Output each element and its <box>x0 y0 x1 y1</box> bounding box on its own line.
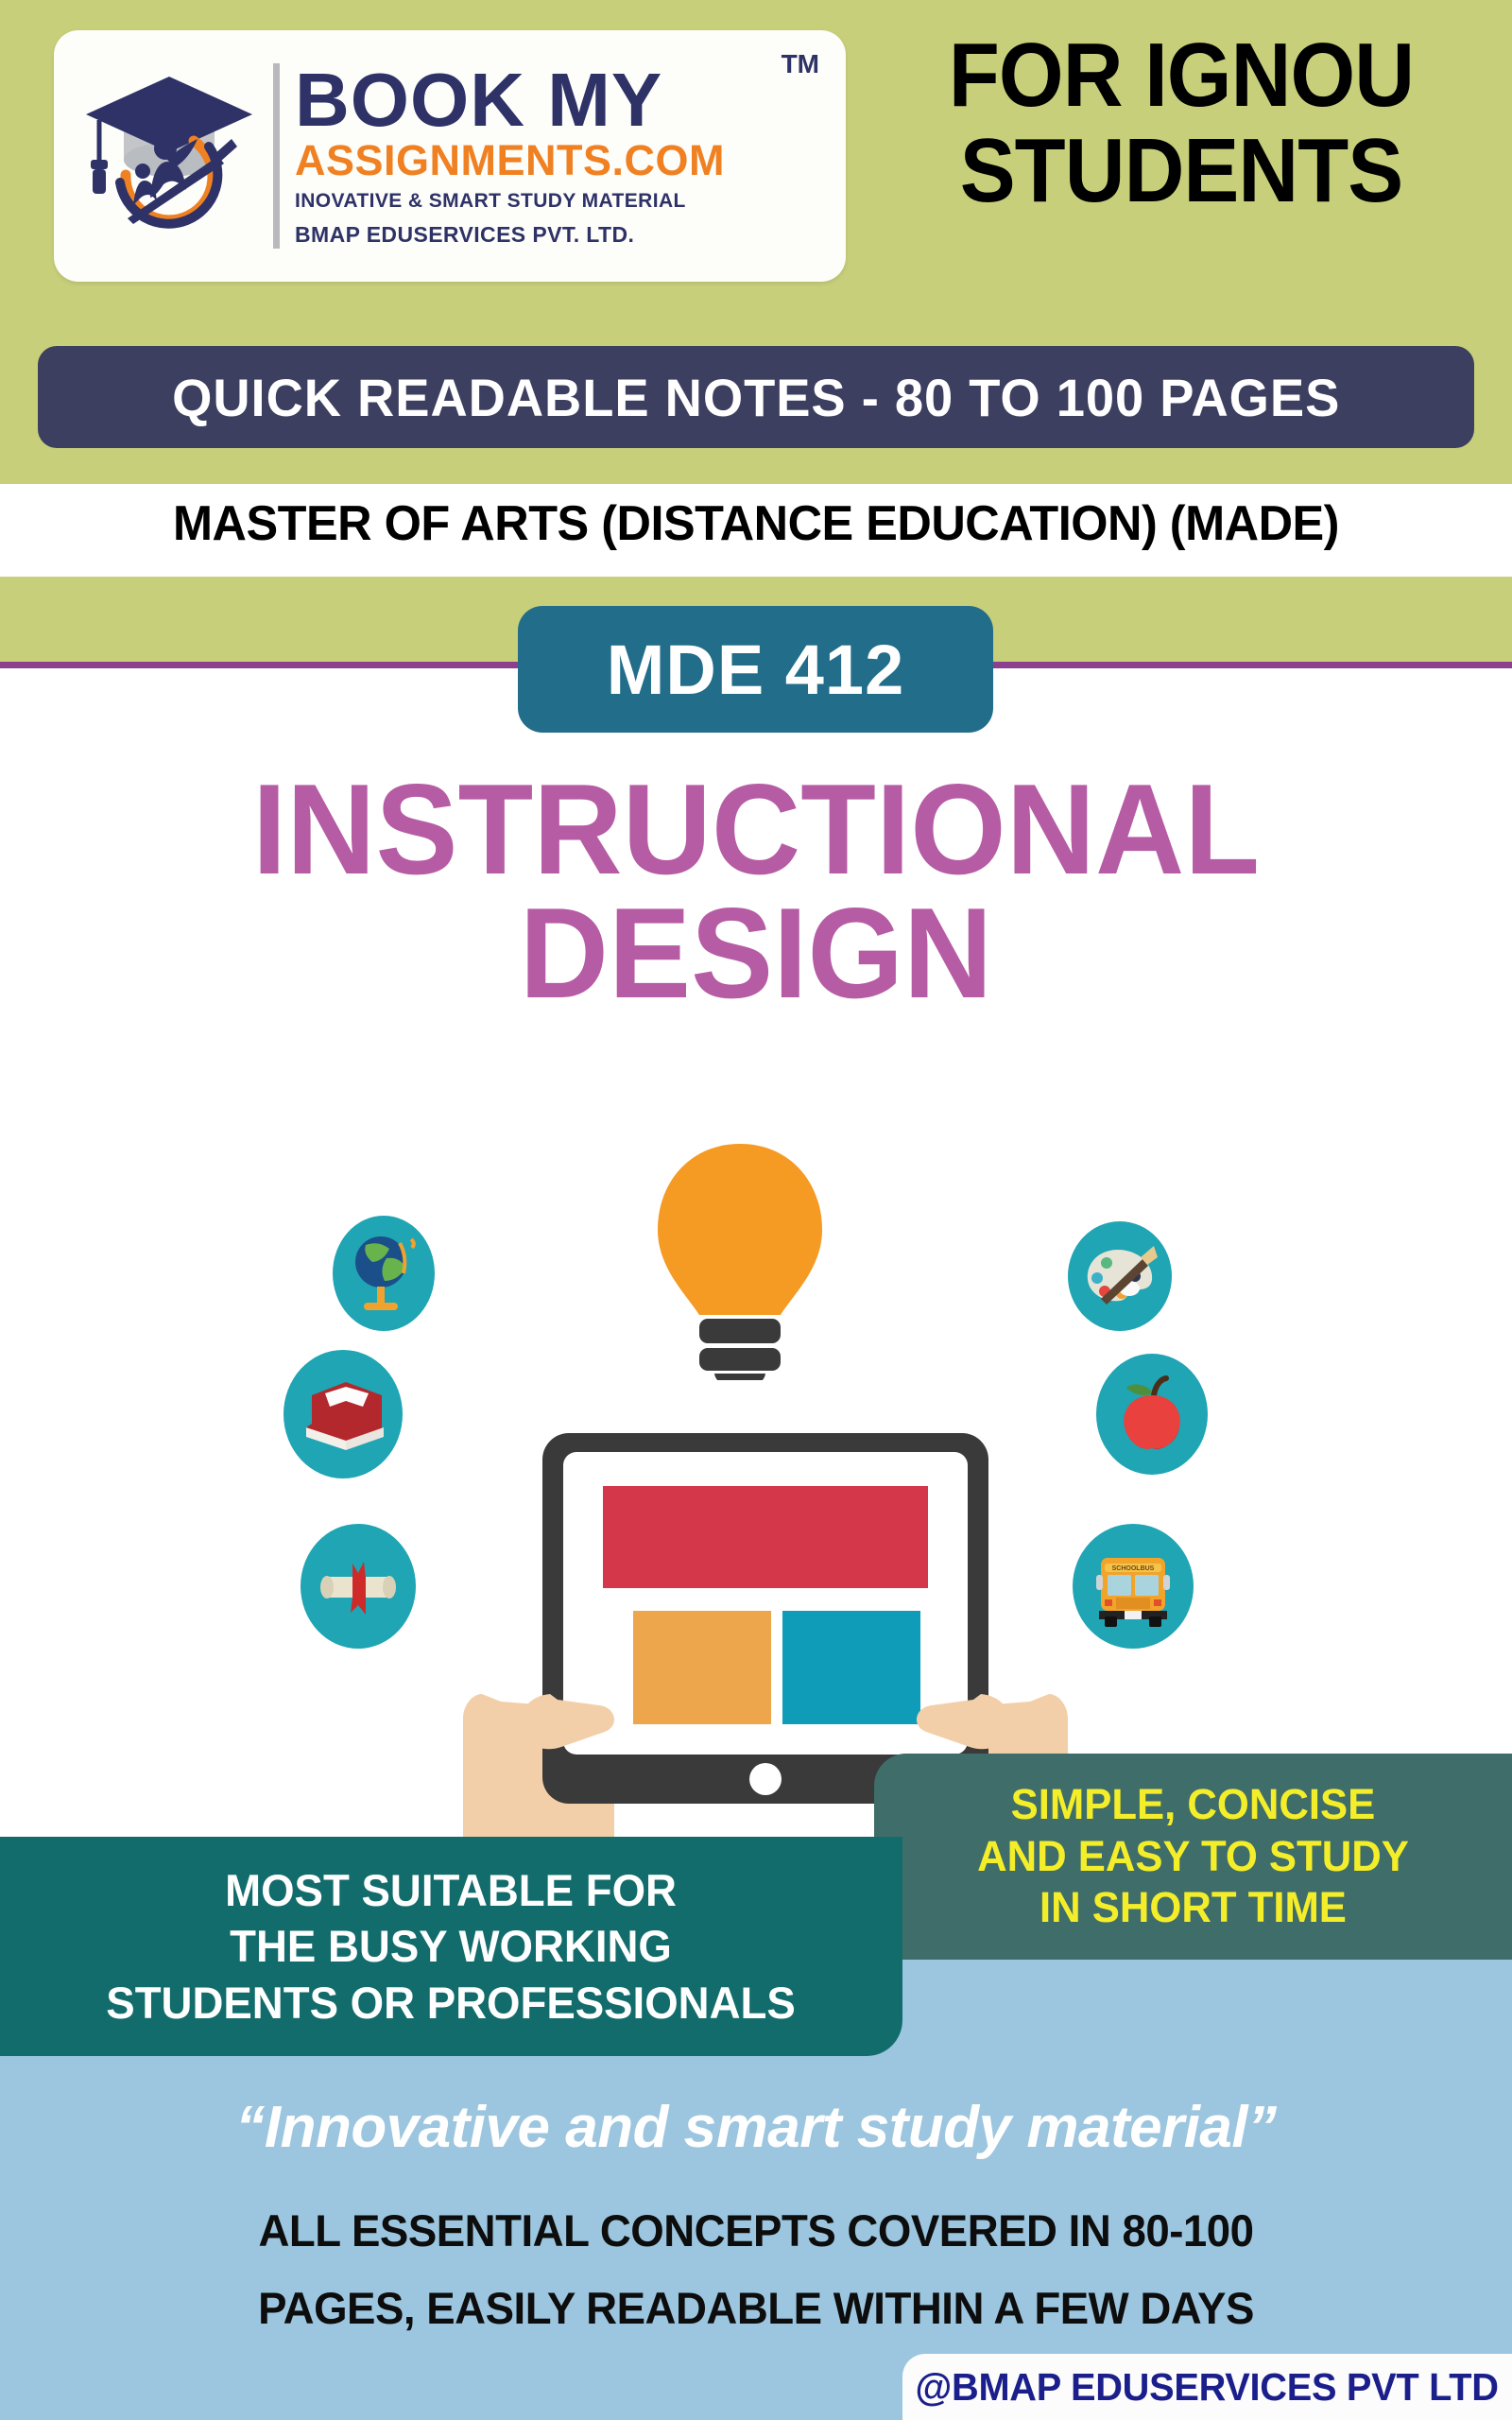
brand-line-2: ASSIGNMENTS.COM <box>295 136 831 185</box>
brand-tagline: INOVATIVE & SMART STUDY MATERIAL <box>295 190 831 213</box>
audience-line-2: STUDENTS <box>894 124 1468 219</box>
logo-wordmark: TM BOOK MY ASSIGNMENTS.COM INOVATIVE & S… <box>295 64 846 248</box>
globe-icon <box>333 1216 435 1331</box>
logo-vertical-divider <box>273 63 280 249</box>
callout-left: MOST SUITABLE FOR THE BUSY WORKING STUDE… <box>0 1837 902 2056</box>
degree-title: MASTER OF ARTS (DISTANCE EDUCATION) (MAD… <box>23 495 1489 552</box>
course-title-line-1: INSTRUCTIONAL <box>30 768 1482 891</box>
course-title-line-2: DESIGN <box>30 891 1482 1015</box>
book-icon <box>283 1350 403 1478</box>
audience-heading: FOR IGNOU STUDENTS <box>894 28 1468 219</box>
svg-text:SCHOOLBUS: SCHOOLBUS <box>1112 1565 1155 1572</box>
callout-left-line-2: THE BUSY WORKING <box>107 1918 797 1974</box>
graduation-cap-logo-icon <box>69 56 269 256</box>
callout-right-line-2: AND EASY TO STUDY <box>977 1831 1409 1883</box>
apple-icon <box>1096 1354 1208 1475</box>
diploma-scroll-icon <box>301 1524 416 1649</box>
callout-left-line-1: MOST SUITABLE FOR <box>107 1862 797 1918</box>
footer-line-1: ALL ESSENTIAL CONCEPTS COVERED IN 80-100 <box>23 2204 1489 2256</box>
callout-left-line-3: STUDENTS OR PROFESSIONALS <box>107 1975 797 2031</box>
trademark-symbol: TM <box>782 49 819 79</box>
brand-company: BMAP EDUSERVICES PVT. LTD. <box>295 222 831 248</box>
callout-right: SIMPLE, CONCISE AND EASY TO STUDY IN SHO… <box>874 1754 1512 1960</box>
company-badge-label: @BMAP EDUSERVICES PVT LTD <box>916 2365 1499 2410</box>
school-bus-icon: SCHOOLBUS <box>1073 1524 1194 1649</box>
audience-line-1: FOR IGNOU <box>894 28 1468 124</box>
course-title: INSTRUCTIONAL DESIGN <box>30 768 1482 1014</box>
brand-logo-card: TM BOOK MY ASSIGNMENTS.COM INOVATIVE & S… <box>54 30 846 282</box>
company-badge: @BMAP EDUSERVICES PVT LTD <box>902 2354 1512 2420</box>
course-code-label: MDE 412 <box>607 630 904 710</box>
brand-line-1: BOOK MY <box>295 64 831 136</box>
callout-right-line-3: IN SHORT TIME <box>977 1882 1409 1934</box>
quick-notes-banner: QUICK READABLE NOTES - 80 TO 100 PAGES <box>38 346 1474 448</box>
poster-page: TM BOOK MY ASSIGNMENTS.COM INOVATIVE & S… <box>0 0 1512 2420</box>
footer-line-2: PAGES, EASILY READABLE WITHIN A FEW DAYS <box>23 2282 1489 2334</box>
palette-icon <box>1068 1221 1172 1331</box>
callout-right-line-1: SIMPLE, CONCISE <box>977 1779 1409 1831</box>
quick-notes-label: QUICK READABLE NOTES - 80 TO 100 PAGES <box>172 367 1340 428</box>
footer-tagline: “Innovative and smart study material” <box>0 2094 1512 2161</box>
lightbulb-icon <box>650 1139 830 1380</box>
course-code-badge: MDE 412 <box>518 606 993 733</box>
